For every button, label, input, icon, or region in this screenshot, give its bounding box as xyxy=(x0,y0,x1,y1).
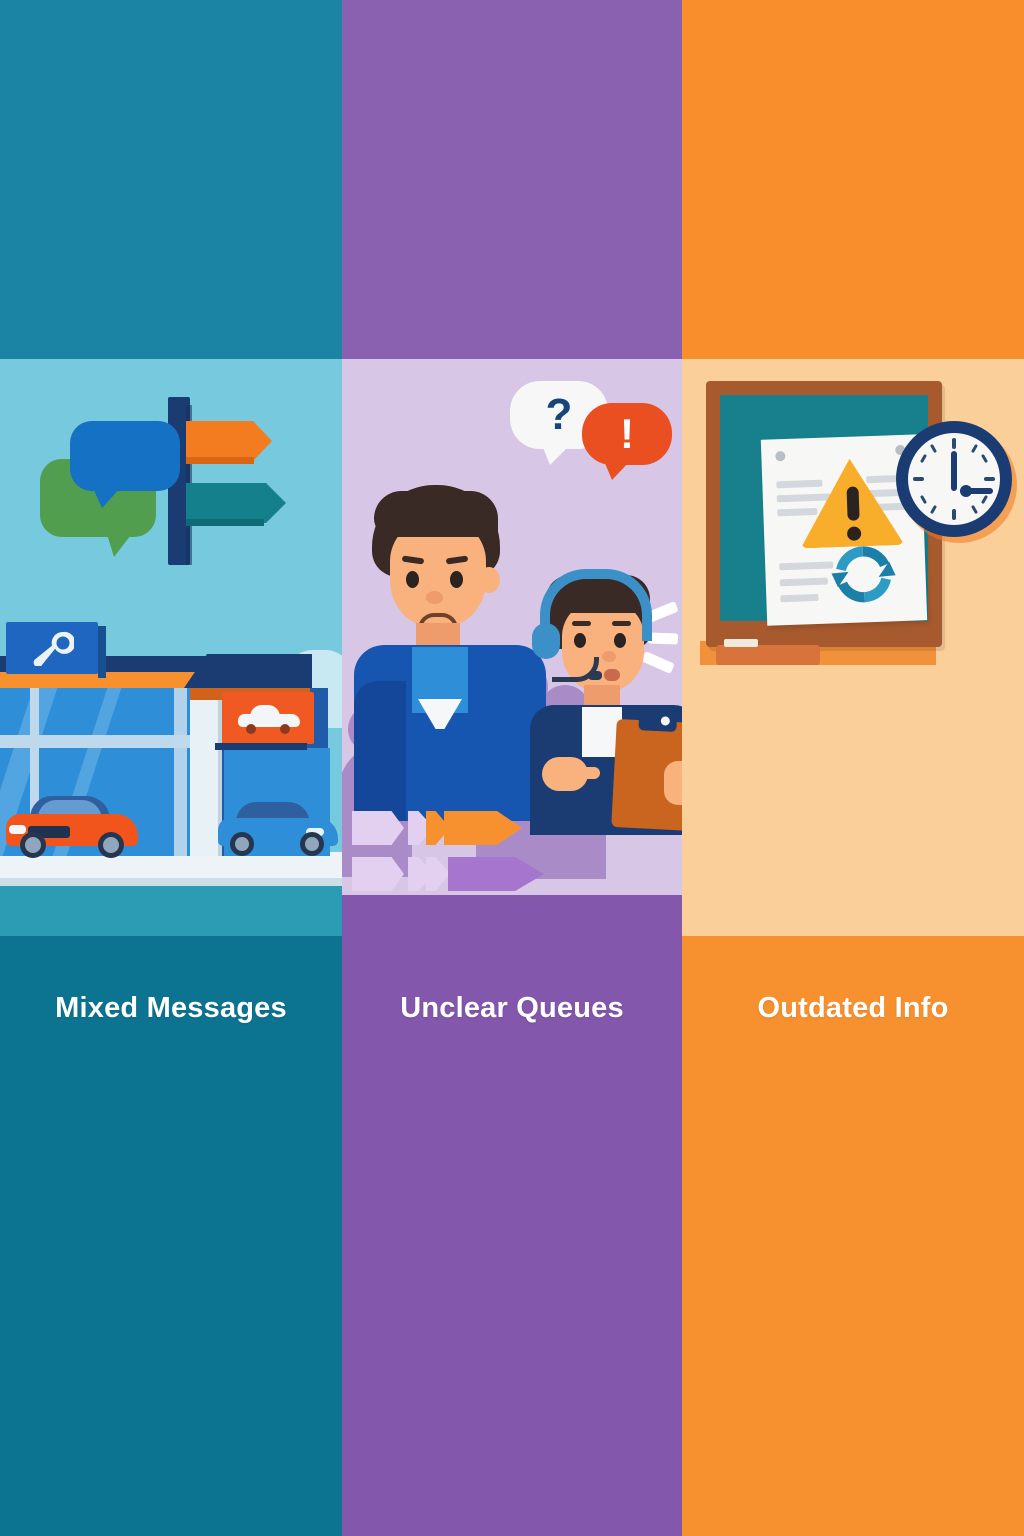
clock-tick xyxy=(984,477,995,481)
chalk-ledge xyxy=(716,645,820,665)
clock-tick xyxy=(971,444,978,453)
speech-bubble-glyph: ? xyxy=(546,393,573,437)
building-pillar xyxy=(190,680,218,856)
clock-tick xyxy=(930,444,937,453)
text-line xyxy=(777,508,817,516)
text-line xyxy=(780,578,828,587)
blue-car xyxy=(218,800,338,852)
window-mullion xyxy=(0,735,222,748)
refresh-arrows-icon xyxy=(822,533,905,616)
infographic-poster: Mixed Messages ? ? ! xyxy=(0,0,1024,1536)
panel-2-bottom-band: Unclear Queues xyxy=(342,936,682,1536)
orange-chevron-arrow xyxy=(352,811,532,845)
panel-1-top-band xyxy=(0,0,342,359)
panel-2-top-band xyxy=(342,0,682,359)
clock-tick xyxy=(971,505,978,514)
panel-label-unclear-queues: Unclear Queues xyxy=(342,992,682,1025)
clock-tick xyxy=(930,505,937,514)
confused-customer xyxy=(360,485,540,815)
chalkboard xyxy=(706,381,942,647)
text-line xyxy=(776,480,822,489)
panel-unclear-queues: ? ? ! xyxy=(342,0,682,1536)
clock-face xyxy=(908,433,1000,525)
car-icon xyxy=(238,704,300,732)
wall-clock-icon xyxy=(896,421,1012,537)
car-sales-sign xyxy=(222,692,314,744)
clock-tick xyxy=(913,477,924,481)
clock-tick xyxy=(920,495,927,504)
panel-label-outdated-info: Outdated Info xyxy=(682,992,1024,1025)
panel-label-mixed-messages: Mixed Messages xyxy=(0,992,342,1025)
wrench-service-sign xyxy=(6,622,98,674)
clock-tick xyxy=(920,454,927,463)
clock-tick xyxy=(981,454,988,463)
headset-earcup xyxy=(532,623,560,659)
panel-outdated-info: Outdated Info xyxy=(682,0,1024,1536)
clock-minute-hand xyxy=(951,451,957,491)
wrench-icon xyxy=(30,630,74,666)
panel-mixed-messages: Mixed Messages xyxy=(0,0,342,1536)
teal-direction-arrow xyxy=(186,483,286,523)
alert-bubble-glyph: ! xyxy=(620,413,634,455)
panel-2-illustration: ? ? ! xyxy=(342,359,682,951)
text-line xyxy=(777,493,831,502)
chalk-piece xyxy=(724,639,758,647)
panel-1-illustration xyxy=(0,359,342,936)
clock-tick xyxy=(952,438,956,449)
text-line xyxy=(780,594,818,602)
clock-tick xyxy=(952,509,956,520)
clock-center-hub xyxy=(960,485,972,497)
purple-chevron-arrow xyxy=(352,857,564,891)
panel-1-bottom-band: Mixed Messages xyxy=(0,936,342,1536)
orange-direction-arrow xyxy=(186,421,272,461)
panel-3-bottom-band: Outdated Info xyxy=(682,936,1024,1536)
red-alert-speech-bubble: ! xyxy=(582,403,672,465)
blue-speech-bubble xyxy=(70,421,180,491)
window-mullion xyxy=(174,688,187,856)
clock-tick xyxy=(981,495,988,504)
orange-car xyxy=(6,796,138,854)
headset-agent xyxy=(526,571,682,821)
panel-3-illustration xyxy=(682,359,1024,936)
push-pin-icon xyxy=(775,451,785,461)
panel-3-top-band xyxy=(682,0,1024,359)
